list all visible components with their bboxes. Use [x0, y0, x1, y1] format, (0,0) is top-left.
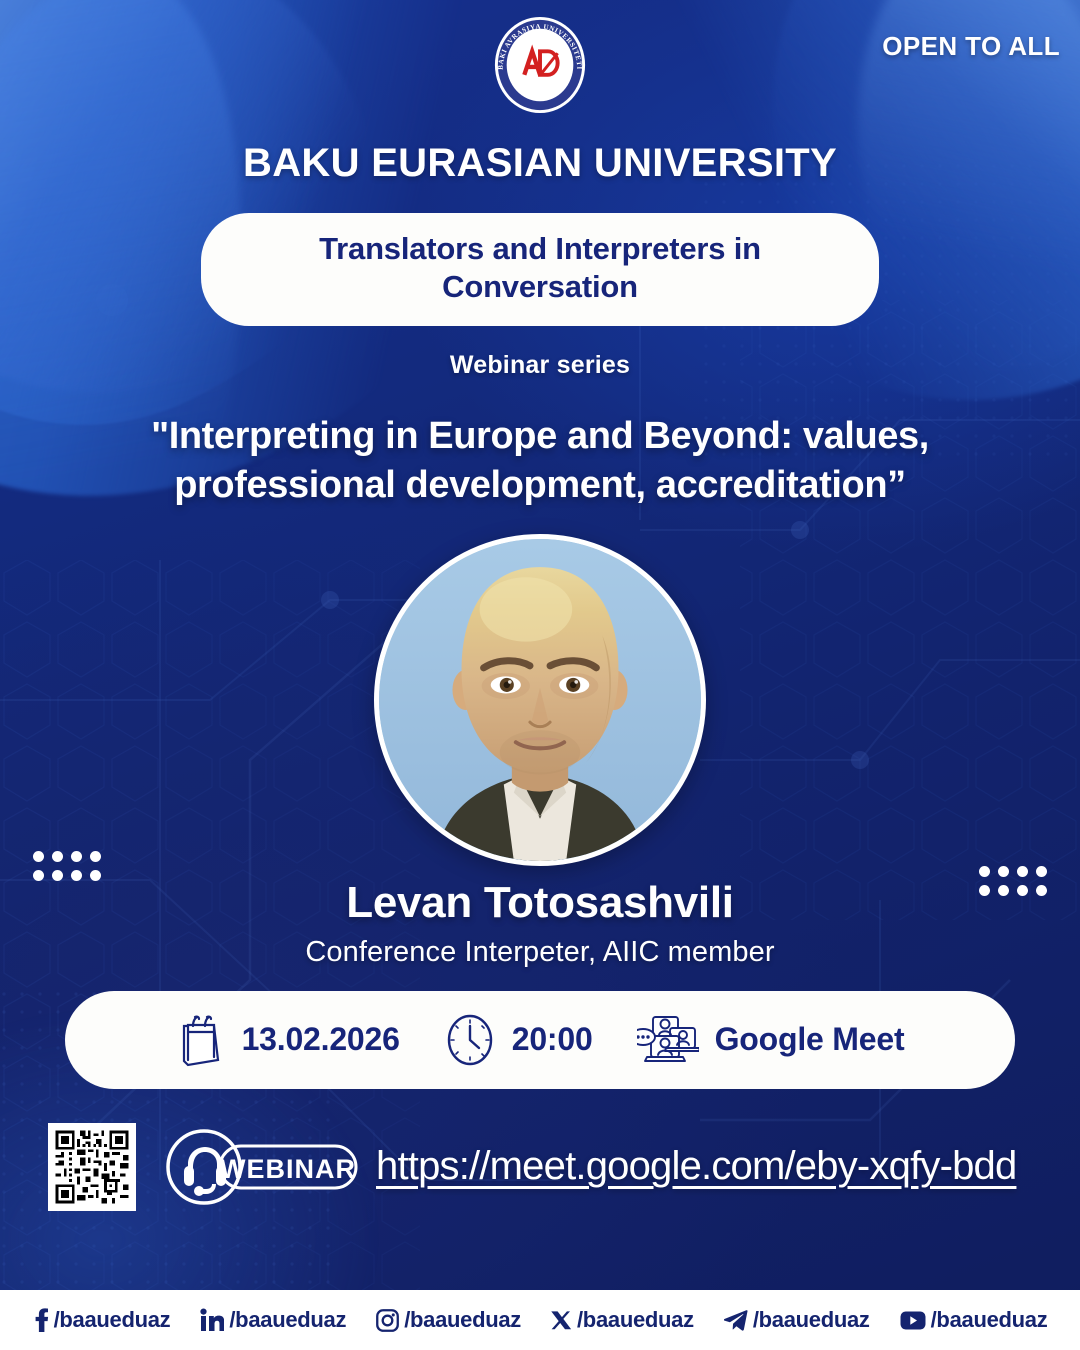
social-footer: /baaueduaz /baaueduaz /baaueduaz: [0, 1290, 1080, 1350]
speaker-role: Conference Interpeter, AIIC member: [0, 936, 1080, 969]
event-date-item: 13.02.2026: [176, 1013, 400, 1067]
calendar-icon: [176, 1013, 226, 1067]
speaker-avatar: [374, 534, 706, 866]
social-handle: /baaueduaz: [229, 1307, 346, 1333]
event-platform-item: Google Meet: [637, 1014, 905, 1066]
speaker-name: Levan Totosashvili: [0, 878, 1080, 928]
event-platform-value: Google Meet: [715, 1021, 905, 1058]
headset-icon: WEBINAR: [162, 1126, 362, 1208]
series-subtitle: Webinar series: [0, 351, 1080, 380]
social-telegram[interactable]: /baaueduaz: [724, 1307, 870, 1333]
meet-link[interactable]: https://meet.google.com/eby-xqfy-bdd: [376, 1144, 1016, 1189]
series-title-pill: Translators and Interpreters in Conversa…: [201, 213, 879, 326]
instagram-icon: [376, 1309, 399, 1332]
social-instagram[interactable]: /baaueduaz: [376, 1307, 521, 1333]
qr-code[interactable]: [48, 1123, 136, 1211]
university-logo-icon: BAKI AVRASIYA UNIVERSITETI 1992: [491, 16, 589, 114]
social-handle: /baaueduaz: [54, 1307, 171, 1333]
qr-code-icon: [53, 1128, 131, 1206]
webinar-badge: WEBINAR: [162, 1126, 362, 1208]
event-time-value: 20:00: [512, 1021, 593, 1058]
social-facebook[interactable]: /baaueduaz: [33, 1307, 171, 1333]
social-youtube[interactable]: /baaueduaz: [900, 1307, 1048, 1333]
join-link-row: WEBINAR https://meet.google.com/eby-xqfy…: [0, 1123, 1080, 1211]
speaker-portrait-image: [379, 539, 701, 861]
social-x-twitter[interactable]: /baaueduaz: [551, 1307, 694, 1333]
event-time-item: 20:00: [444, 1013, 593, 1067]
open-to-all-badge: OPEN TO ALL: [882, 31, 1060, 62]
facebook-icon: [33, 1308, 49, 1332]
university-name: BAKU EURASIAN UNIVERSITY: [0, 141, 1080, 186]
social-handle: /baaueduaz: [577, 1307, 694, 1333]
series-title-text: Translators and Interpreters in Conversa…: [241, 230, 839, 306]
clock-icon: [444, 1013, 496, 1067]
event-info-bar: 13.02.2026 20:00: [65, 991, 1015, 1089]
x-twitter-icon: [551, 1310, 572, 1331]
social-handle: /baaueduaz: [931, 1307, 1048, 1333]
svg-text:1992: 1992: [530, 87, 550, 97]
telegram-icon: [724, 1310, 748, 1331]
youtube-icon: [900, 1311, 926, 1330]
social-handle: /baaueduaz: [753, 1307, 870, 1333]
poster-header: BAKI AVRASIYA UNIVERSITETI 1992 OPEN TO …: [0, 0, 1080, 128]
svg-text:WEBINAR: WEBINAR: [220, 1154, 356, 1184]
video-conference-icon: [637, 1014, 699, 1066]
webinar-topic-title: "Interpreting in Europe and Beyond: valu…: [40, 412, 1040, 509]
event-date-value: 13.02.2026: [242, 1021, 400, 1058]
social-handle: /baaueduaz: [404, 1307, 521, 1333]
webinar-poster: BAKI AVRASIYA UNIVERSITETI 1992 OPEN TO …: [0, 0, 1080, 1350]
social-linkedin[interactable]: /baaueduaz: [200, 1307, 346, 1333]
linkedin-icon: [200, 1308, 224, 1332]
